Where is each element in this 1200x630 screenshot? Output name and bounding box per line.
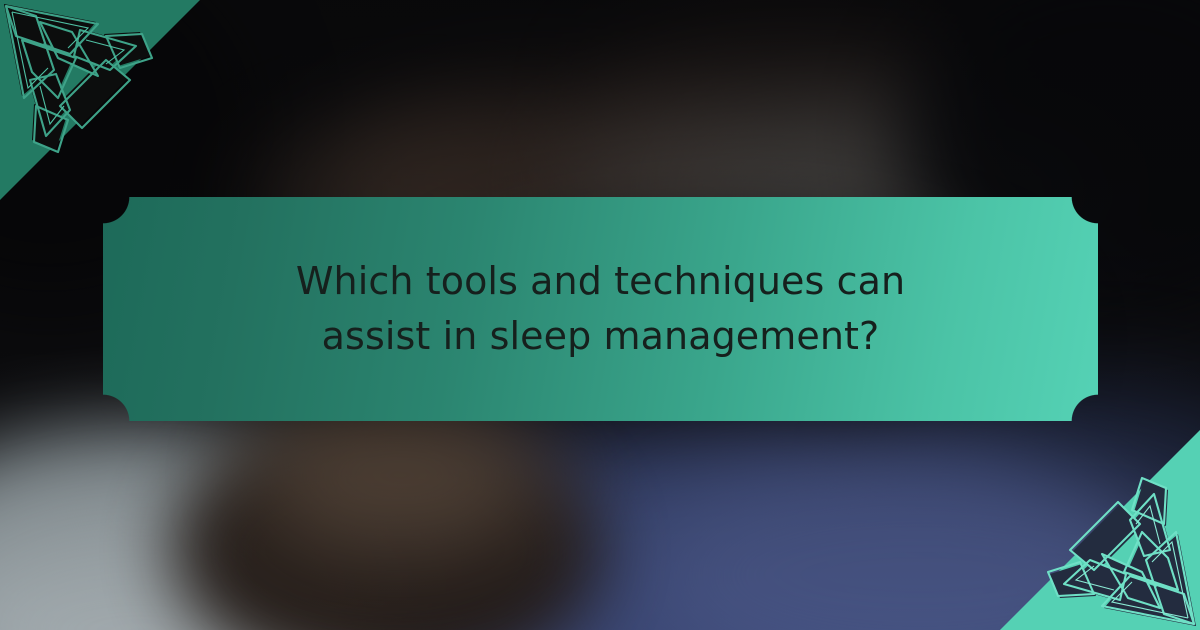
question-card-surface: Which tools and techniques can assist in… xyxy=(103,197,1098,421)
poster-canvas: Which tools and techniques can assist in… xyxy=(0,0,1200,630)
question-title: Which tools and techniques can assist in… xyxy=(251,254,951,365)
question-card: Which tools and techniques can assist in… xyxy=(103,197,1098,421)
question-card-content: Which tools and techniques can assist in… xyxy=(103,197,1098,421)
